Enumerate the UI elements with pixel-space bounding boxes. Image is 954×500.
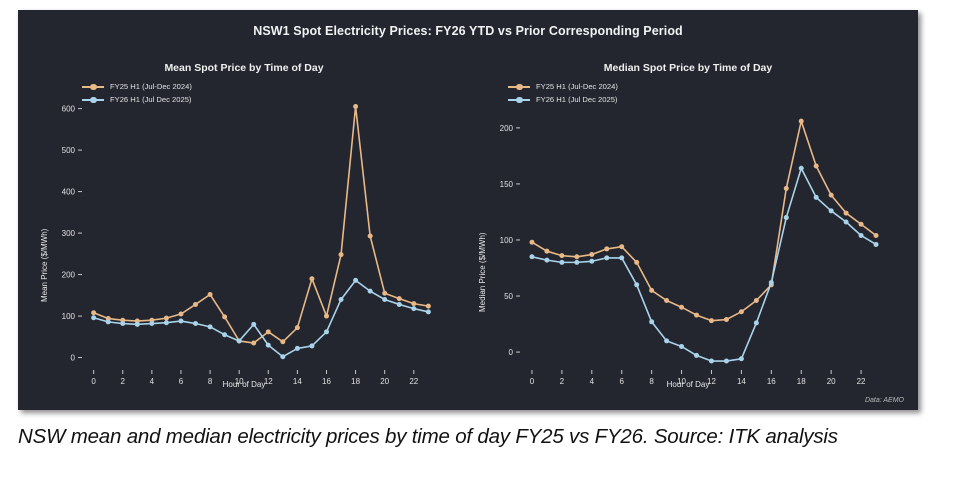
legend-swatch-fy26-icon <box>508 95 530 104</box>
svg-text:0: 0 <box>71 354 76 363</box>
legend-swatch-fy25-icon <box>82 82 104 91</box>
legend-label-fy25: FY25 H1 (Jul-Dec 2024) <box>110 82 192 91</box>
legend-item-fy26[interactable]: FY26 H1 (Jul Dec 2025) <box>508 94 618 105</box>
mean-chart-plot: 01002003004005006000246810121416182022 <box>24 54 464 399</box>
svg-text:600: 600 <box>62 105 76 114</box>
svg-text:100: 100 <box>500 236 514 245</box>
legend-item-fy25[interactable]: FY25 H1 (Jul-Dec 2024) <box>82 81 192 92</box>
data-source-note: Data: AEMO <box>865 397 904 404</box>
legend-label-fy26: FY26 H1 (Jul Dec 2025) <box>536 95 617 104</box>
svg-text:200: 200 <box>500 124 514 133</box>
median-x-axis-label: Hour of Day <box>464 380 912 389</box>
svg-text:150: 150 <box>500 180 514 189</box>
legend-swatch-fy26-icon <box>82 95 104 104</box>
svg-text:500: 500 <box>62 146 76 155</box>
svg-text:50: 50 <box>504 292 513 301</box>
legend-item-fy26[interactable]: FY26 H1 (Jul Dec 2025) <box>82 94 192 105</box>
svg-text:300: 300 <box>62 229 76 238</box>
median-chart-plot: 0501001502000246810121416182022 <box>464 54 912 399</box>
svg-text:0: 0 <box>509 348 514 357</box>
mean-x-axis-label: Hour of Day <box>24 380 464 389</box>
mean-price-chart: Mean Spot Price by Time of Day 010020030… <box>24 54 464 399</box>
legend-swatch-fy25-icon <box>508 82 530 91</box>
legend-label-fy25: FY25 H1 (Jul-Dec 2024) <box>536 82 618 91</box>
svg-text:400: 400 <box>62 188 76 197</box>
legend-item-fy25[interactable]: FY25 H1 (Jul-Dec 2024) <box>508 81 618 92</box>
svg-text:100: 100 <box>62 312 76 321</box>
median-price-chart: Median Spot Price by Time of Day 0501001… <box>464 54 912 399</box>
figure-caption: NSW mean and median electricity prices b… <box>18 424 934 450</box>
median-y-axis-label: Median Price ($/MWh) <box>478 232 487 312</box>
screenshot-root: NSW1 Spot Electricity Prices: FY26 YTD v… <box>0 0 954 500</box>
mean-chart-legend: FY25 H1 (Jul-Dec 2024) FY26 H1 (Jul Dec … <box>82 81 192 105</box>
figure-title: NSW1 Spot Electricity Prices: FY26 YTD v… <box>18 24 918 38</box>
legend-label-fy26: FY26 H1 (Jul Dec 2025) <box>110 95 191 104</box>
chart-figure-panel: NSW1 Spot Electricity Prices: FY26 YTD v… <box>18 10 918 410</box>
median-chart-legend: FY25 H1 (Jul-Dec 2024) FY26 H1 (Jul Dec … <box>508 81 618 105</box>
svg-text:200: 200 <box>62 271 76 280</box>
mean-y-axis-label: Mean Price ($/MWh) <box>40 229 49 302</box>
